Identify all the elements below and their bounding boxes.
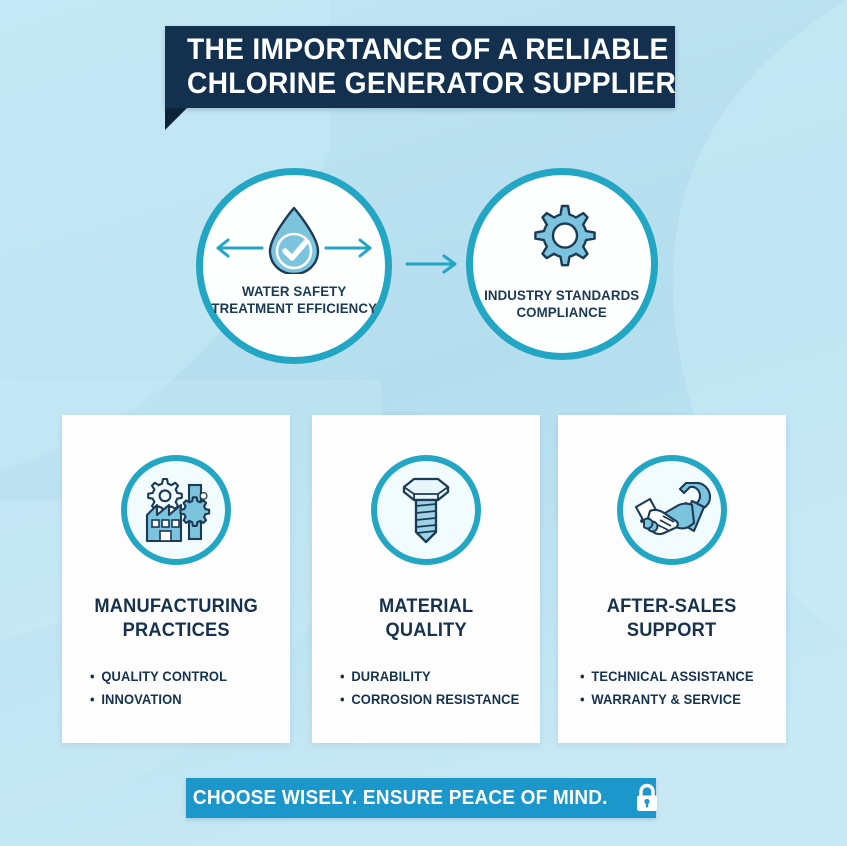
- card-title-manufacturing-line2: PRACTICES: [94, 619, 258, 643]
- list-item: WARRANTY & SERVICE: [580, 688, 754, 711]
- list-item: QUALITY CONTROL: [90, 665, 227, 688]
- card-title-after-sales-line1: AFTER-SALES: [607, 595, 737, 619]
- circle-industry-standards[interactable]: INDUSTRY STANDARDS COMPLIANCE: [466, 168, 658, 360]
- card-bullets-material: DURABILITY CORROSION RESISTANCE: [340, 665, 527, 711]
- handshake-wrench-icon: [617, 455, 727, 565]
- list-item: INNOVATION: [90, 688, 227, 711]
- circle-caption-water-line1: WATER SAFETY: [211, 283, 377, 300]
- title-banner: THE IMPORTANCE OF A RELIABLE CHLORINE GE…: [165, 26, 675, 108]
- title-line-1: THE IMPORTANCE OF A RELIABLE: [187, 33, 625, 67]
- circle-water-safety[interactable]: WATER SAFETY TREATMENT EFFICIENCY: [196, 168, 392, 364]
- circle-caption-industry: INDUSTRY STANDARDS COMPLIANCE: [484, 287, 639, 321]
- card-bullets-after-sales: TECHNICAL ASSISTANCE WARRANTY & SERVICE: [580, 665, 761, 711]
- factory-gears-icon: [121, 455, 231, 565]
- card-bullets-manufacturing: QUALITY CONTROL INNOVATION: [90, 665, 233, 711]
- circle-caption-industry-line2: COMPLIANCE: [484, 304, 639, 321]
- ribbon-tail: [165, 108, 187, 130]
- bolt-screw-icon: [371, 455, 481, 565]
- bottom-cta-text: CHOOSE WISELY. ENSURE PEACE OF MIND.: [193, 787, 608, 810]
- water-droplet-check-icon: [203, 199, 385, 277]
- bottom-cta-banner[interactable]: CHOOSE WISELY. ENSURE PEACE OF MIND.: [186, 778, 656, 818]
- card-title-material-line2: QUALITY: [379, 619, 473, 643]
- card-material-quality[interactable]: MATERIAL QUALITY DURABILITY CORROSION RE…: [312, 415, 540, 743]
- list-item: DURABILITY: [340, 665, 519, 688]
- padlock-icon: [634, 783, 660, 813]
- gear-icon: [473, 203, 651, 275]
- card-title-material: MATERIAL QUALITY: [379, 595, 473, 643]
- list-item: CORROSION RESISTANCE: [340, 688, 519, 711]
- card-title-manufacturing-line1: MANUFACTURING: [94, 595, 258, 619]
- card-manufacturing-practices[interactable]: MANUFACTURING PRACTICES QUALITY CONTROL …: [62, 415, 290, 743]
- card-title-after-sales-line2: SUPPORT: [607, 619, 737, 643]
- card-title-material-line1: MATERIAL: [379, 595, 473, 619]
- feature-card-row: MANUFACTURING PRACTICES QUALITY CONTROL …: [0, 415, 847, 745]
- circle-caption-industry-line1: INDUSTRY STANDARDS: [484, 287, 639, 304]
- right-arrow-icon: [404, 252, 462, 276]
- card-title-manufacturing: MANUFACTURING PRACTICES: [94, 595, 258, 643]
- title-line-2: CHLORINE GENERATOR SUPPLIER: [187, 67, 625, 101]
- list-item: TECHNICAL ASSISTANCE: [580, 665, 754, 688]
- infographic-canvas: THE IMPORTANCE OF A RELIABLE CHLORINE GE…: [0, 0, 847, 846]
- circle-caption-water-line2: TREATMENT EFFICIENCY: [211, 300, 377, 317]
- card-after-sales-support[interactable]: AFTER-SALES SUPPORT TECHNICAL ASSISTANCE…: [558, 415, 786, 743]
- top-circle-row: WATER SAFETY TREATMENT EFFICIENCY INDUST…: [0, 160, 847, 370]
- card-title-after-sales: AFTER-SALES SUPPORT: [607, 595, 737, 643]
- circle-caption-water: WATER SAFETY TREATMENT EFFICIENCY: [211, 283, 377, 317]
